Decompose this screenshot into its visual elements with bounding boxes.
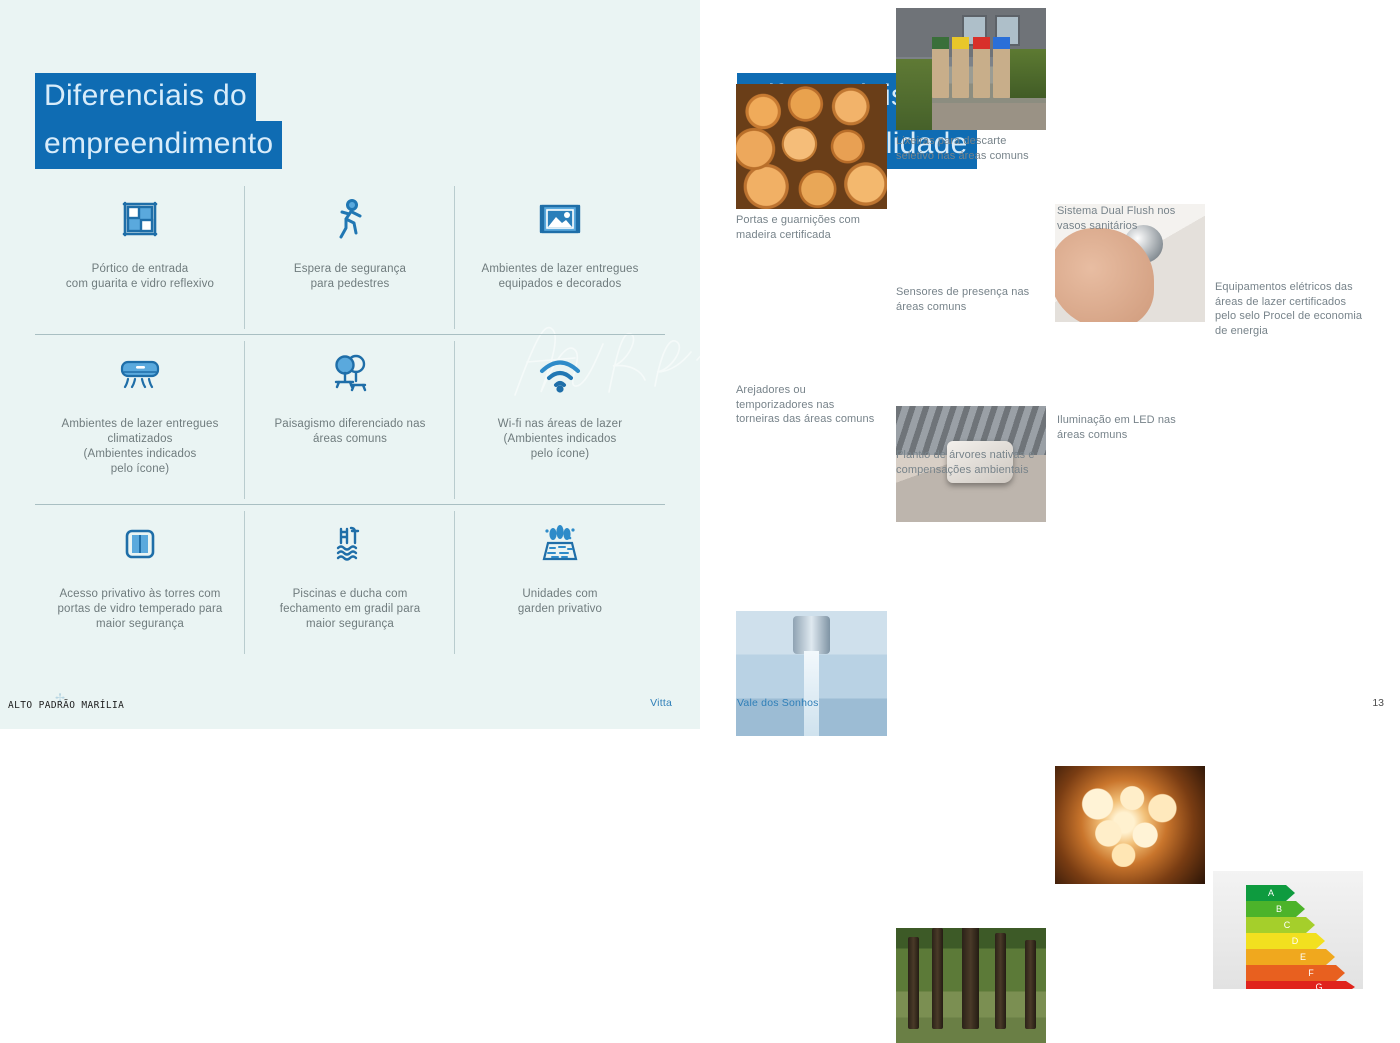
left-panel: Diferenciais do empreendimento [0,0,700,729]
private-garden-icon [534,517,586,571]
forest-trees-photo[interactable] [896,928,1046,1043]
footer-brand-left: ALTO PADRÃO MARÍLIA [8,700,124,711]
caption-led: Iluminação em LED nas áreas comuns [1057,413,1217,442]
svg-text:D: D [1292,936,1299,946]
feature-card-landscaping[interactable]: Paisagismo diferenciado nas áreas comuns [245,335,455,505]
elevator-door-icon [116,517,164,571]
caption-sensor: Sensores de presença nas áreas comuns [896,285,1056,314]
air-conditioner-icon [114,347,166,401]
feature-label: Espera de segurança para pedestres [294,262,406,292]
feature-grid: Pórtico de entrada com guarita e vidro r… [35,180,665,660]
feature-label: Pórtico de entrada com guarita e vidro r… [66,262,214,292]
feature-label: Piscinas e ducha com fechamento em gradi… [280,587,421,632]
feature-card-tower-access[interactable]: Acesso privativo às torres com portas de… [35,505,245,660]
footer-project-vitta: Vitta [650,697,672,709]
energy-rating-chart: A B C D E F G [1213,871,1363,989]
feature-label: Paisagismo diferenciado nas áreas comuns [274,417,425,447]
svg-text:E: E [1300,952,1306,962]
svg-text:C: C [1284,920,1291,930]
landscaping-icon [326,347,374,401]
svg-text:B: B [1276,904,1282,914]
running-tap-photo[interactable] [736,611,887,736]
feature-label: Ambientes de lazer entregues equipados e… [482,262,639,292]
caption-wood: Portas e guarnições com madeira certific… [736,213,886,242]
recycling-bins-photo[interactable] [896,8,1046,130]
left-title-line-1: Diferenciais do [35,73,256,121]
right-panel: Diferenciais de sustentabilidade Portas … [700,0,1400,729]
picture-frame-icon [534,192,586,246]
feature-label: Wi-fi nas áreas de lazer (Ambientes indi… [498,417,622,462]
left-title-line-2: empreendimento [35,121,282,169]
led-lamp-photo[interactable] [1055,766,1205,884]
feature-label: Acesso privativo às torres com portas de… [58,587,223,632]
svg-text:A: A [1268,888,1274,898]
caption-energy: Equipamentos elétricos das áreas de laze… [1215,280,1375,338]
slide-page: Diferenciais do empreendimento [0,0,1400,729]
feature-card-air-conditioning[interactable]: Ambientes de lazer entregues climatizado… [35,335,245,505]
caption-tap: Arejadores ou temporizadores nas torneir… [736,383,891,427]
svg-text:G: G [1315,982,1322,989]
wifi-icon [535,347,585,401]
feature-card-private-garden[interactable]: Unidades com garden privativo [455,505,665,660]
left-title: Diferenciais do empreendimento [35,73,282,169]
feature-card-leisure-decorated[interactable]: Ambientes de lazer entregues equipados e… [455,180,665,335]
pool-shower-icon [326,517,374,571]
footer-project-vale-dos-sonhos: Vale dos Sonhos [737,697,819,709]
caption-bins: Lixeiras para descarte seletivo nas área… [896,134,1056,163]
feature-card-pool[interactable]: Piscinas e ducha com fechamento em gradi… [245,505,455,660]
sustainability-collage: Portas e guarnições com madeira certific… [700,0,1400,729]
caption-trees: Plantio de árvores nativas e compensaçõe… [896,448,1061,477]
pedestrian-icon [326,192,374,246]
feature-label: Unidades com garden privativo [518,587,602,617]
footer-page-number: 13 [1372,697,1384,709]
svg-text:F: F [1308,968,1314,978]
feature-label: Ambientes de lazer entregues climatizado… [62,417,219,477]
caption-flush: Sistema Dual Flush nos vasos sanitários [1057,204,1217,233]
feature-card-gate[interactable]: Pórtico de entrada com guarita e vidro r… [35,180,245,335]
energy-label-photo[interactable]: A B C D E F G [1213,871,1363,989]
feature-card-wifi[interactable]: Wi-fi nas áreas de lazer (Ambientes indi… [455,335,665,505]
stacked-logs-photo[interactable] [736,84,887,209]
feature-card-pedestrian[interactable]: Espera de segurança para pedestres [245,180,455,335]
gate-entrance-icon [116,192,164,246]
